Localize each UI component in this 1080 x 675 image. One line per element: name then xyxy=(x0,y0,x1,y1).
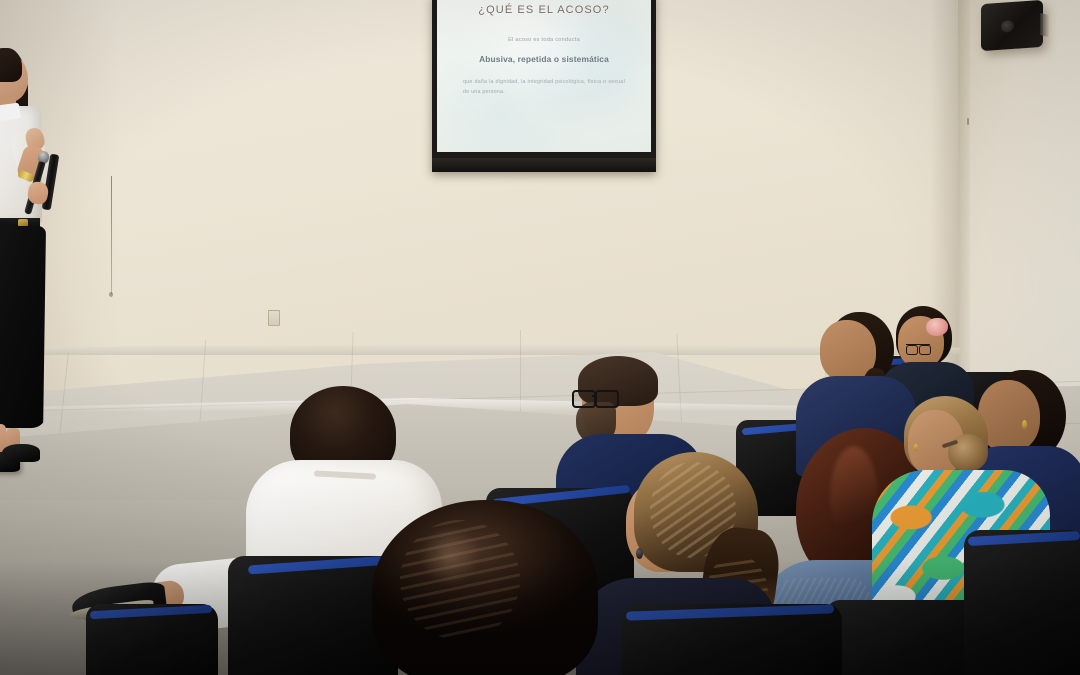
audience-member-foreground xyxy=(372,500,612,675)
hair-highlight xyxy=(830,446,878,550)
slide-lead-text: El acoso es toda conducta xyxy=(437,37,651,43)
presenter-skirt xyxy=(0,226,46,428)
speaker-bracket xyxy=(1040,13,1049,37)
hair-scrunchie xyxy=(926,318,948,336)
slide-title: ¿QUÉ ES EL ACOSO? xyxy=(437,4,651,16)
slide-highlight-text: Abusiva, repetida o sistemática xyxy=(437,54,651,64)
auditorium-scene: ¿QUÉ ES EL ACOSO? El acoso es toda condu… xyxy=(0,0,1080,675)
eyeglasses-icon xyxy=(572,390,618,405)
auditorium-seat[interactable] xyxy=(964,530,1080,675)
presenter-belt-buckle xyxy=(18,219,28,227)
projector-glow xyxy=(437,0,651,152)
slide-canvas: ¿QUÉ ES EL ACOSO? El acoso es toda condu… xyxy=(437,0,651,152)
projection-screen: ¿QUÉ ES EL ACOSO? El acoso es toda condu… xyxy=(432,0,656,184)
wall-nail xyxy=(967,118,969,125)
lens-left xyxy=(572,390,596,408)
projection-screen-frame: ¿QUÉ ES EL ACOSO? El acoso es toda condu… xyxy=(432,0,656,172)
hair-highlight xyxy=(420,526,480,586)
speaker-cone-icon xyxy=(1001,20,1014,33)
earring xyxy=(914,444,918,451)
wall-speaker-icon xyxy=(981,0,1043,51)
presenter-hair-front xyxy=(0,48,22,82)
presenter-shoe-right xyxy=(2,444,40,462)
lens-right xyxy=(595,390,619,408)
earring xyxy=(636,548,643,559)
right-wall xyxy=(958,0,1080,430)
wall-outlet-icon xyxy=(268,310,280,326)
presenter-figure xyxy=(0,42,114,492)
presenter-collar xyxy=(0,103,21,122)
slide-body-text: que daña la dignidad, la integridad psic… xyxy=(463,77,625,97)
